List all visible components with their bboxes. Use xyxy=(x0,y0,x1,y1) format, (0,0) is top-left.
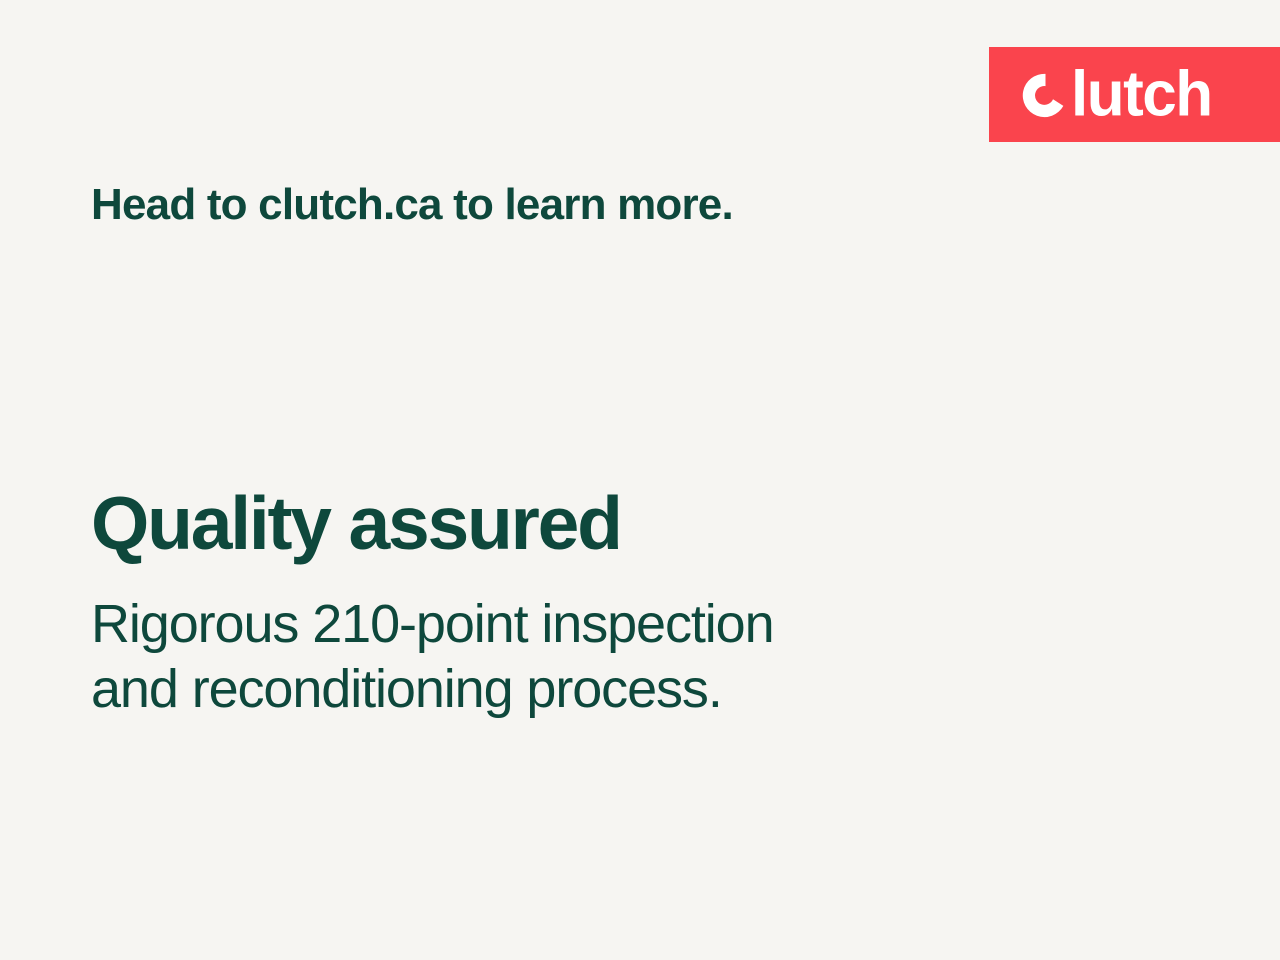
page-title: Quality assured xyxy=(91,484,621,563)
eyebrow-text: Head to clutch.ca to learn more. xyxy=(91,180,733,231)
subhead-text: Rigorous 210-point inspection and recond… xyxy=(91,592,774,722)
subhead-line-1: Rigorous 210-point inspection xyxy=(91,592,774,657)
clutch-c-mark-icon xyxy=(1022,72,1069,119)
brand-banner: lutch xyxy=(989,47,1280,142)
slide-canvas: lutch Head to clutch.ca to learn more. Q… xyxy=(0,0,1280,960)
brand-lockup: lutch xyxy=(1022,64,1212,126)
subhead-line-2: and reconditioning process. xyxy=(91,657,774,722)
brand-wordmark: lutch xyxy=(1071,63,1212,127)
